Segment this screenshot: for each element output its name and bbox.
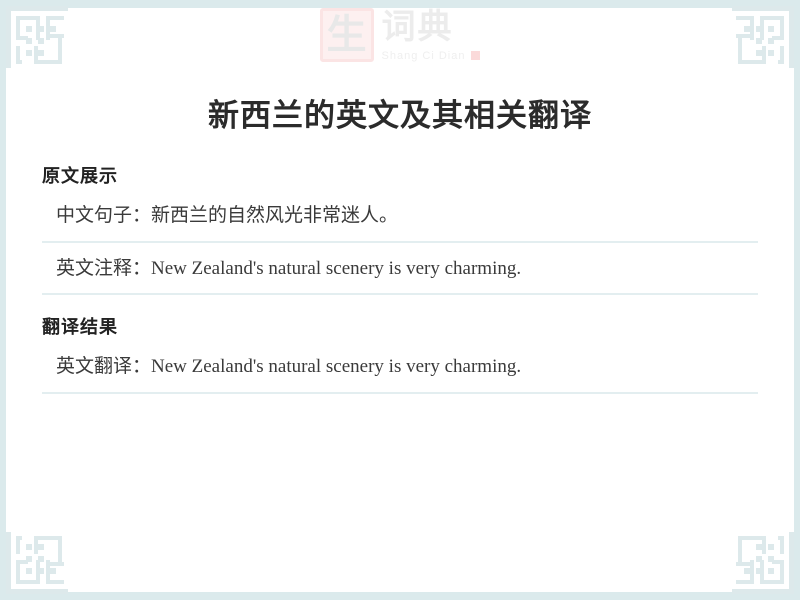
page-root: 生 词典 Shang Ci Dian 新西兰的英文及其相关翻译 原文展示 中文句… [0, 0, 800, 600]
row-value-chinese-sentence: 新西兰的自然风光非常迷人。 [151, 205, 398, 226]
row-value-english-translation: New Zealand's natural scenery is very ch… [151, 356, 521, 377]
section-title-original: 原文展示 [42, 162, 758, 188]
corner-ornament-bottom-left [2, 518, 82, 598]
logo-seal-icon: 生 [320, 8, 374, 62]
logo-seal-char: 生 [327, 15, 367, 55]
border-strip-top [0, 0, 800, 8]
corner-ornament-bottom-right [718, 518, 798, 598]
logo-brand-cn: 词典 [382, 10, 481, 46]
row-label-chinese-sentence: 中文句子： [56, 205, 151, 226]
page-title: 新西兰的英文及其相关翻译 [0, 96, 800, 136]
border-strip-bottom [0, 592, 800, 600]
row-chinese-sentence: 中文句子：新西兰的自然风光非常迷人。 [42, 190, 758, 243]
row-label-english-translation: 英文翻译： [56, 356, 151, 377]
section-original-text: 原文展示 中文句子：新西兰的自然风光非常迷人。 英文注释：New Zealand… [0, 162, 800, 295]
logo-accent-square-icon [471, 51, 480, 60]
main-content: 新西兰的英文及其相关翻译 原文展示 中文句子：新西兰的自然风光非常迷人。 英文注… [0, 86, 800, 394]
row-english-annotation: 英文注释：New Zealand's natural scenery is ve… [42, 243, 758, 296]
row-english-translation: 英文翻译：New Zealand's natural scenery is ve… [42, 341, 758, 394]
section-translation-result: 翻译结果 英文翻译：New Zealand's natural scenery … [0, 313, 800, 394]
row-label-english-annotation: 英文注释： [56, 258, 151, 279]
section-title-translation: 翻译结果 [42, 313, 758, 339]
site-logo: 生 词典 Shang Ci Dian [0, 8, 800, 78]
logo-brand-pinyin: Shang Ci Dian [382, 50, 466, 62]
row-value-english-annotation: New Zealand's natural scenery is very ch… [151, 258, 521, 279]
